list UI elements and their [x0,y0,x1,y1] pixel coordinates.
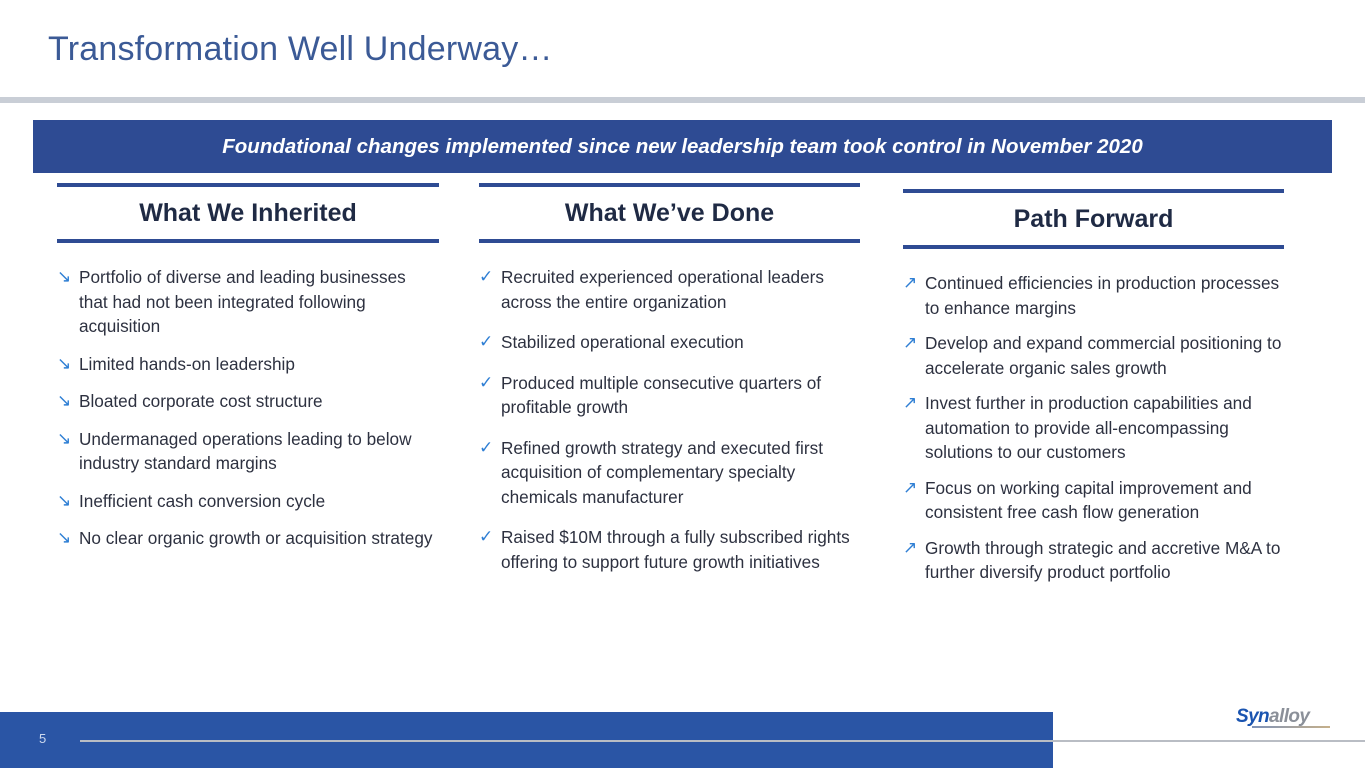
list-item-text: No clear organic growth or acquisition s… [79,526,439,551]
list-item: ✓Refined growth strategy and executed fi… [479,436,860,510]
column-header-1: What We’ve Done [479,183,860,243]
arrow-down-right-icon: ↘ [57,427,79,452]
list-item: ↘Portfolio of diverse and leading busine… [57,265,439,339]
bullet-list-0: ↘Portfolio of diverse and leading busine… [57,265,439,551]
arrow-down-right-icon: ↘ [57,526,79,551]
check-icon: ✓ [479,371,501,396]
list-item-text: Recruited experienced operational leader… [501,265,860,314]
column-1: What We’ve Done✓Recruited experienced op… [479,183,860,590]
list-item: ↗Invest further in production capabiliti… [903,391,1284,465]
list-item: ↗Focus on working capital improvement an… [903,476,1284,525]
list-item-text: Raised $10M through a fully subscribed r… [501,525,860,574]
list-item-text: Invest further in production capabilitie… [925,391,1284,465]
list-item-text: Develop and expand commercial positionin… [925,331,1284,380]
arrow-up-right-icon: ↗ [903,391,925,416]
logo-text-primary: Syn [1236,706,1269,727]
column-header-2: Path Forward [903,183,1284,249]
arrow-up-right-icon: ↗ [903,331,925,356]
list-item: ↘Inefficient cash conversion cycle [57,489,439,514]
arrow-down-right-icon: ↘ [57,352,79,377]
title-divider [0,97,1365,103]
column-header-0: What We Inherited [57,183,439,243]
list-item: ↗Continued efficiencies in production pr… [903,271,1284,320]
list-item-text: Growth through strategic and accretive M… [925,536,1284,585]
column-rule-bottom-2 [903,245,1284,249]
list-item-text: Portfolio of diverse and leading busines… [79,265,439,339]
column-title-0: What We Inherited [57,187,439,239]
list-item-text: Undermanaged operations leading to below… [79,427,439,476]
list-item: ✓Recruited experienced operational leade… [479,265,860,314]
list-item-text: Bloated corporate cost structure [79,389,439,414]
list-item-text: Stabilized operational execution [501,330,860,355]
column-0: What We Inherited↘Portfolio of diverse a… [57,183,439,564]
arrow-up-right-icon: ↗ [903,271,925,296]
page-title: Transformation Well Underway… [48,30,553,69]
list-item: ✓Produced multiple consecutive quarters … [479,371,860,420]
list-item: ✓Raised $10M through a fully subscribed … [479,525,860,574]
check-icon: ✓ [479,265,501,290]
column-title-2: Path Forward [903,193,1284,245]
list-item-text: Refined growth strategy and executed fir… [501,436,860,510]
columns-container: What We Inherited↘Portfolio of diverse a… [0,183,1365,703]
column-rule-bottom-1 [479,239,860,243]
arrow-down-right-icon: ↘ [57,389,79,414]
column-rule-bottom-0 [57,239,439,243]
column-title-1: What We’ve Done [479,187,860,239]
synalloy-logo: Synalloy [1236,706,1309,728]
check-icon: ✓ [479,330,501,355]
list-item-text: Inefficient cash conversion cycle [79,489,439,514]
banner: Foundational changes implemented since n… [33,120,1332,173]
footer-divider [80,740,1365,742]
page-number: 5 [39,731,46,746]
logo-underline [1252,726,1330,728]
bullet-list-2: ↗Continued efficiencies in production pr… [903,271,1284,585]
list-item-text: Continued efficiencies in production pro… [925,271,1284,320]
list-item-text: Focus on working capital improvement and… [925,476,1284,525]
list-item: ✓Stabilized operational execution [479,330,860,355]
logo-text-secondary: alloy [1269,706,1309,727]
arrow-down-right-icon: ↘ [57,265,79,290]
list-item: ↗Growth through strategic and accretive … [903,536,1284,585]
list-item-text: Produced multiple consecutive quarters o… [501,371,860,420]
check-icon: ✓ [479,525,501,550]
list-item: ↘No clear organic growth or acquisition … [57,526,439,551]
bullet-list-1: ✓Recruited experienced operational leade… [479,265,860,574]
column-2: Path Forward↗Continued efficiencies in p… [903,183,1284,596]
check-icon: ✓ [479,436,501,461]
arrow-up-right-icon: ↗ [903,536,925,561]
list-item: ↗Develop and expand commercial positioni… [903,331,1284,380]
list-item: ↘Limited hands-on leadership [57,352,439,377]
list-item: ↘Bloated corporate cost structure [57,389,439,414]
arrow-up-right-icon: ↗ [903,476,925,501]
arrow-down-right-icon: ↘ [57,489,79,514]
list-item: ↘Undermanaged operations leading to belo… [57,427,439,476]
list-item-text: Limited hands-on leadership [79,352,439,377]
banner-text: Foundational changes implemented since n… [222,135,1142,159]
